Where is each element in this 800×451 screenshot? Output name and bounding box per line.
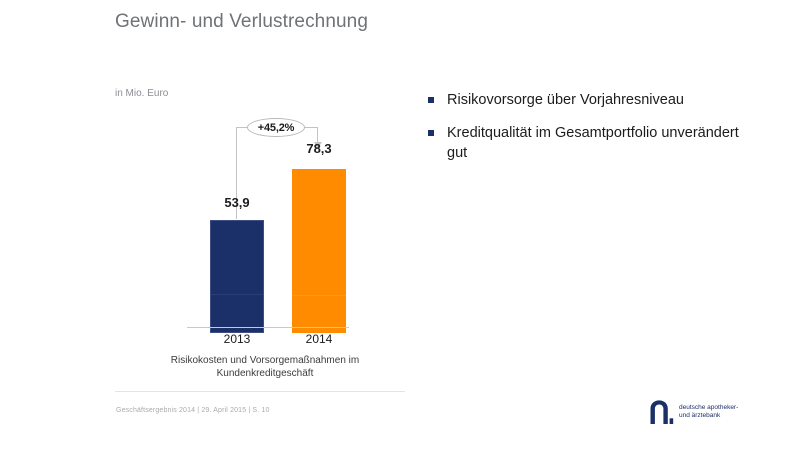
square-bullet-icon [428, 130, 434, 136]
logo-wordmark: deutsche apotheker- und ärztebank [679, 404, 738, 421]
growth-badge: +45,2% [247, 118, 305, 137]
category-label-2014: 2014 [284, 332, 354, 346]
bar-value-2013: 53,9 [207, 195, 267, 210]
bar-value-2014: 78,3 [289, 141, 349, 156]
logo-wordmark-line-2: und ärztebank [679, 412, 738, 421]
category-label-2013: 2013 [202, 332, 272, 346]
bar-2013[interactable] [210, 220, 264, 333]
footer-divider [115, 391, 405, 392]
bar-chart: in Mio. Euro +45,2% 53,9 78,3 2013 2014 … [115, 88, 415, 388]
bullet-text: Kreditqualität im Gesamtportfolio unverä… [447, 123, 758, 163]
page-title: Gewinn- und Verlustrechnung [115, 11, 368, 33]
bar-2014[interactable] [292, 169, 346, 333]
square-bullet-icon [428, 97, 434, 103]
bullet-list: Risikovorsorge über Vorjahresniveau Kred… [428, 90, 758, 176]
slide-canvas: Gewinn- und Verlustrechnung in Mio. Euro… [0, 0, 800, 451]
list-item: Risikovorsorge über Vorjahresniveau [428, 90, 758, 110]
logo-wordmark-line-1: deutsche apotheker- [679, 404, 738, 413]
footer-meta: Geschäftsergebnis 2014 | 29. April 2015 … [116, 407, 270, 414]
chart-caption-line-2: Kundenkreditgeschäft [115, 367, 415, 380]
chart-plot-area: +45,2% 53,9 78,3 2013 2014 [115, 88, 415, 333]
bullet-text: Risikovorsorge über Vorjahresniveau [447, 90, 684, 110]
bank-logo-icon [648, 399, 674, 425]
chart-baseline [187, 327, 349, 328]
company-logo: deutsche apotheker- und ärztebank [648, 399, 738, 425]
chart-caption: Risikokosten und Vorsorgemaßnahmen im Ku… [115, 354, 415, 380]
chart-caption-line-1: Risikokosten und Vorsorgemaßnahmen im [115, 354, 415, 367]
list-item: Kreditqualität im Gesamtportfolio unverä… [428, 123, 758, 163]
